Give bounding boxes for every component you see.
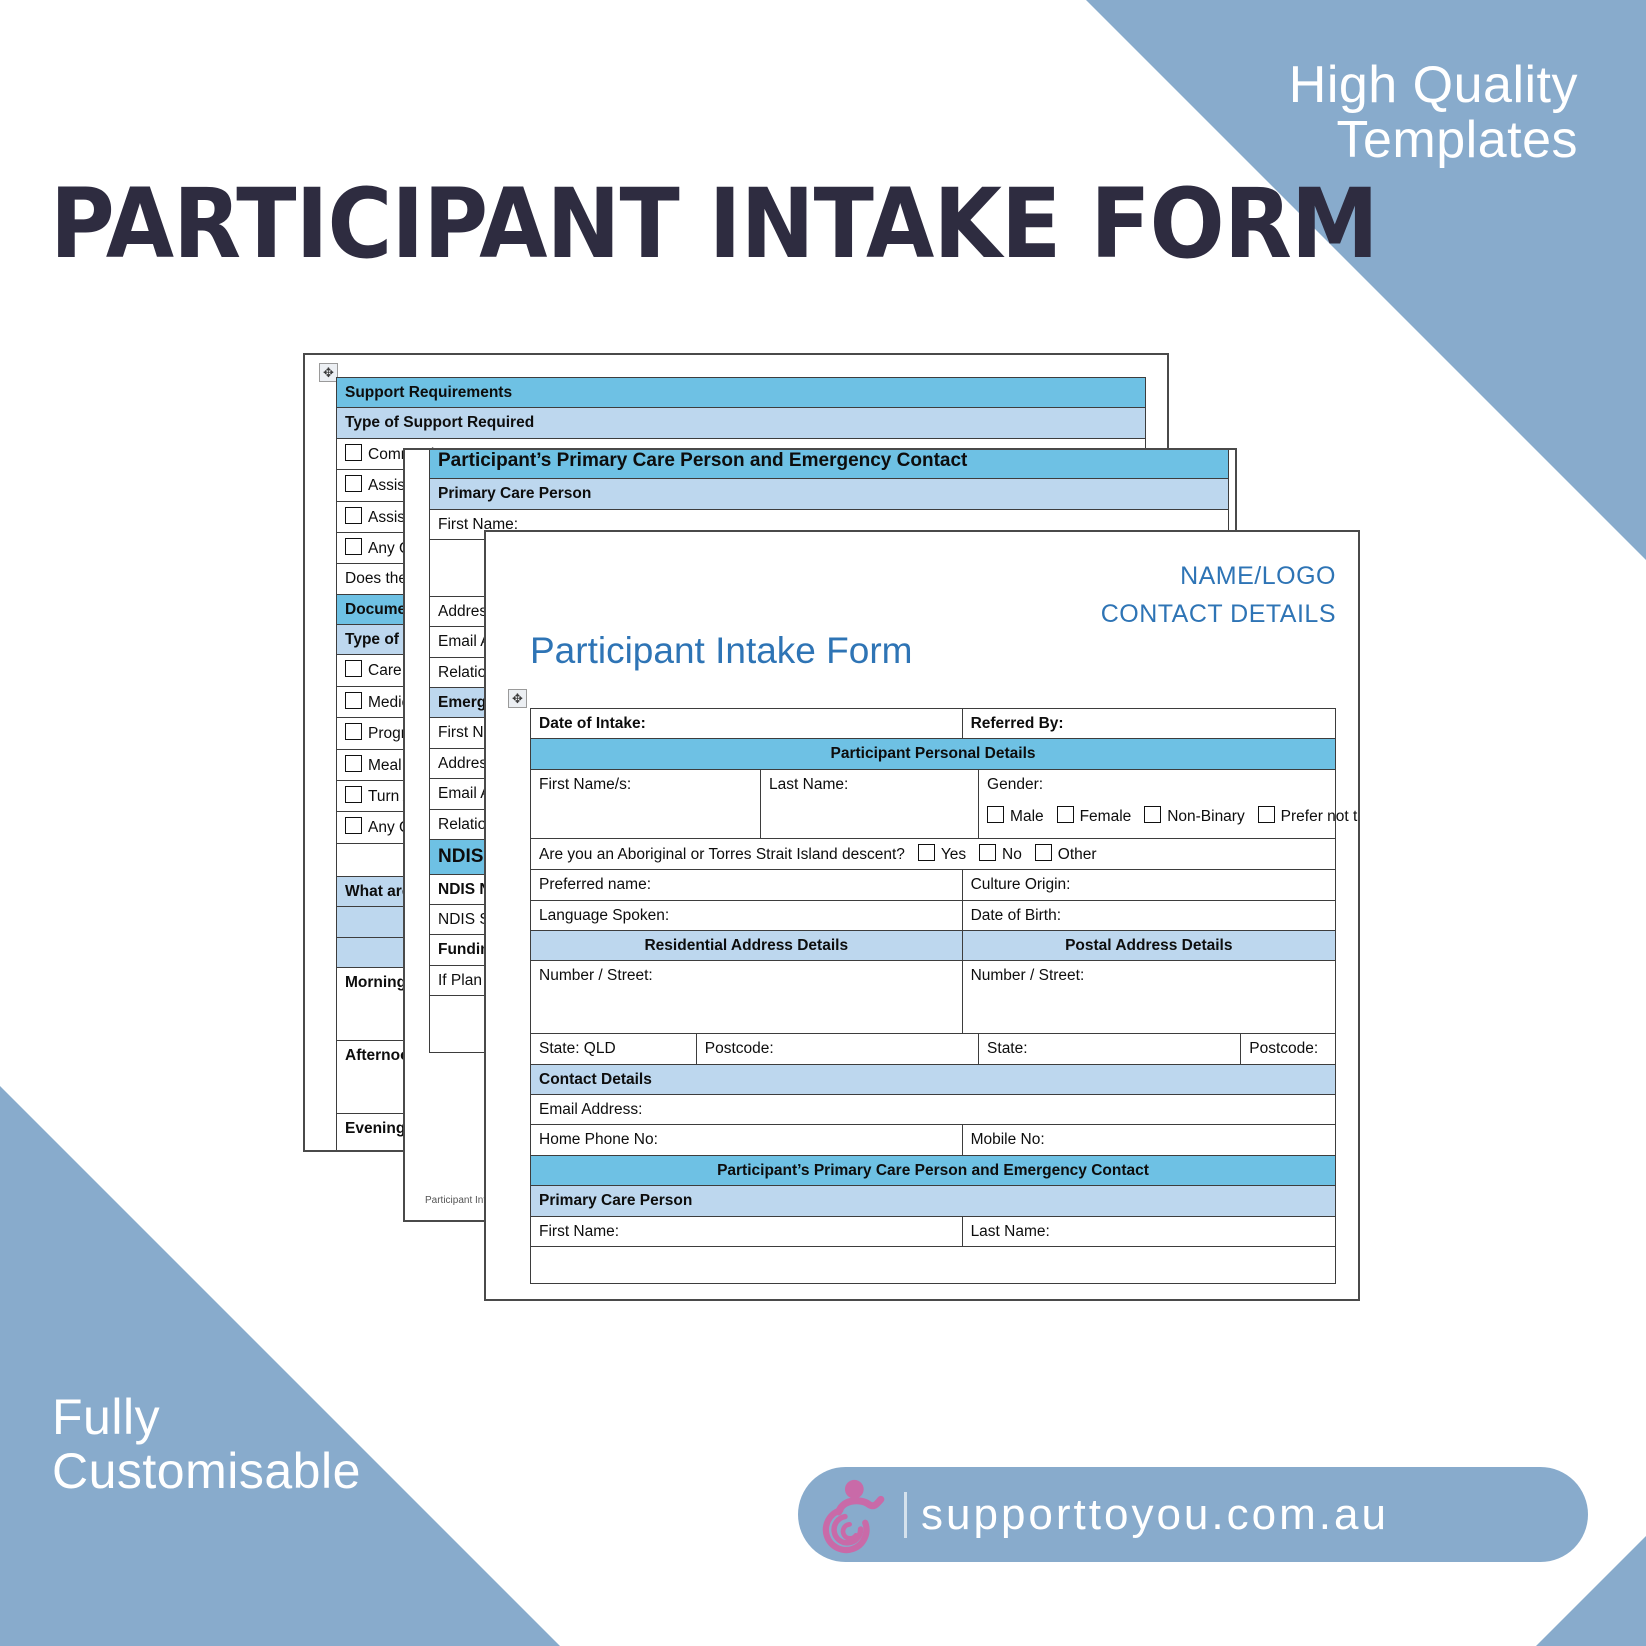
checkbox-icon[interactable]	[345, 444, 362, 461]
personal-details-header: Participant Personal Details	[531, 739, 1336, 769]
primary-care-emergency-header: Participant’s Primary Care Person and Em…	[531, 1155, 1336, 1185]
support-requirements-header: Support Requirements	[337, 378, 1146, 408]
aboriginal-option-label: Other	[1058, 846, 1097, 863]
checkbox-icon[interactable]	[1258, 806, 1275, 823]
contact-details-header: Contact Details	[531, 1064, 1336, 1094]
checkbox-icon[interactable]	[345, 475, 362, 492]
checkbox-icon[interactable]	[345, 786, 362, 803]
residential-number-street-field[interactable]: Number / Street:	[531, 961, 963, 1034]
gender-field: Gender: Male Female Non-Binary Prefer no…	[979, 770, 1335, 838]
postal-number-street-field[interactable]: Number / Street:	[962, 961, 1335, 1034]
type-of-support-header: Type of Support Required	[337, 408, 1146, 438]
checkbox-icon[interactable]	[345, 660, 362, 677]
residential-postcode-field[interactable]: Postcode:	[696, 1034, 978, 1063]
checkbox-icon[interactable]	[345, 817, 362, 834]
gender-option-label: Female	[1080, 808, 1132, 825]
badge-high-quality: High Quality Templates	[1289, 58, 1578, 167]
badge-line-1: Fully	[52, 1390, 361, 1444]
badge-fully-customisable: Fully Customisable	[52, 1390, 361, 1498]
referred-by-label[interactable]: Referred By:	[962, 709, 1335, 739]
move-handle-icon[interactable]: ✥	[508, 689, 527, 708]
gender-label: Gender:	[987, 775, 1327, 794]
first-names-field[interactable]: First Name/s:	[531, 770, 761, 838]
postal-address-header: Postal Address Details	[962, 930, 1335, 960]
residential-state-field[interactable]: State: QLD	[531, 1034, 696, 1063]
checkbox-icon[interactable]	[918, 844, 935, 861]
checkbox-icon[interactable]	[345, 507, 362, 524]
checkbox-icon[interactable]	[345, 723, 362, 740]
gender-options[interactable]: Male Female Non-Binary Prefer not to say	[987, 806, 1327, 826]
pcp-blank-row[interactable]	[531, 1246, 1336, 1283]
badge-line-2: Customisable	[52, 1444, 361, 1498]
doc-title: Participant Intake Form	[530, 630, 912, 672]
aboriginal-option-label: No	[1002, 846, 1022, 863]
checkbox-icon[interactable]	[979, 844, 996, 861]
gender-option-label: Prefer not to say	[1281, 808, 1360, 825]
date-of-intake-label[interactable]: Date of Intake:	[531, 709, 963, 739]
checkbox-icon[interactable]	[345, 692, 362, 709]
names-gender-row: First Name/s: Last Name: Gender: Male Fe…	[531, 769, 1336, 838]
checkbox-icon[interactable]	[345, 538, 362, 555]
postal-state-field[interactable]: State:	[979, 1034, 1241, 1063]
aboriginal-question-label: Are you an Aboriginal or Torres Strait I…	[539, 846, 905, 863]
checkbox-icon[interactable]	[1057, 806, 1074, 823]
gender-option-label: Male	[1010, 808, 1044, 825]
website-url-label: supporttoyou.com.au	[921, 1490, 1389, 1540]
logo-divider	[904, 1492, 907, 1538]
badge-line-1: High Quality	[1289, 58, 1578, 113]
intake-form-table: Date of Intake: Referred By: Participant…	[530, 708, 1336, 1284]
last-name-field[interactable]: Last Name:	[761, 770, 979, 838]
mobile-no-field[interactable]: Mobile No:	[962, 1125, 1335, 1155]
checkbox-icon[interactable]	[1035, 844, 1052, 861]
primary-care-person-header: Primary Care Person	[430, 479, 1229, 509]
checkbox-icon[interactable]	[345, 755, 362, 772]
aboriginal-descent-row[interactable]: Are you an Aboriginal or Torres Strait I…	[531, 838, 1336, 869]
document-page-intake-form[interactable]: NAME/LOGO CONTACT DETAILS Participant In…	[484, 530, 1360, 1301]
name-logo-text: NAME/LOGO	[1101, 558, 1336, 596]
preferred-name-field[interactable]: Preferred name:	[531, 870, 963, 900]
checkbox-icon[interactable]	[987, 806, 1004, 823]
email-address-field[interactable]: Email Address:	[531, 1095, 1336, 1125]
checkbox-icon[interactable]	[1144, 806, 1161, 823]
page-title: PARTICIPANT INTAKE FORM	[50, 168, 1378, 280]
language-spoken-field[interactable]: Language Spoken:	[531, 900, 963, 930]
badge-line-2: Templates	[1289, 113, 1578, 168]
postal-postcode-field[interactable]: Postcode:	[1241, 1034, 1335, 1063]
gender-option-label: Non-Binary	[1167, 808, 1245, 825]
state-postcode-row: State: QLD Postcode: State: Postcode:	[531, 1034, 1336, 1064]
date-of-birth-field[interactable]: Date of Birth:	[962, 900, 1335, 930]
pcp-first-name-field[interactable]: First Name:	[531, 1216, 963, 1246]
contact-details-text: CONTACT DETAILS	[1101, 596, 1336, 634]
supporttoyou-logo-icon	[820, 1476, 898, 1554]
culture-origin-field[interactable]: Culture Origin:	[962, 870, 1335, 900]
website-footer-bar[interactable]: supporttoyou.com.au	[798, 1467, 1588, 1562]
primary-care-person-header: Primary Care Person	[531, 1186, 1336, 1216]
aboriginal-option-label: Yes	[941, 846, 966, 863]
home-phone-field[interactable]: Home Phone No:	[531, 1125, 963, 1155]
primary-care-emergency-header: Participant’s Primary Care Person and Em…	[430, 448, 1229, 479]
residential-address-header: Residential Address Details	[531, 930, 963, 960]
doc-header-block: NAME/LOGO CONTACT DETAILS	[1101, 558, 1336, 633]
pcp-last-name-field[interactable]: Last Name:	[962, 1216, 1335, 1246]
